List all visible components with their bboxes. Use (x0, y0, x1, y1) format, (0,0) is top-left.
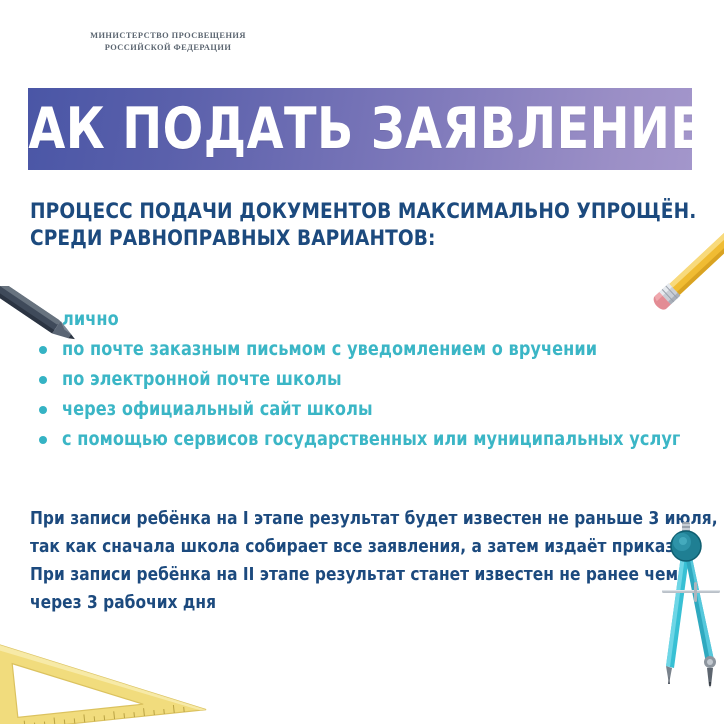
subtitle: ПРОЦЕСС ПОДАЧИ ДОКУМЕНТОВ МАКСИМАЛЬНО УП… (30, 198, 700, 252)
note-line-1: При записи ребёнка на I этапе результат … (30, 505, 678, 533)
triangle-ruler-icon (0, 624, 220, 724)
list-item-label: через официальный сайт школы (62, 395, 373, 425)
note-paragraph: При записи ребёнка на I этапе результат … (30, 505, 695, 617)
subtitle-line-2: СРЕДИ РАВНОПРАВНЫХ ВАРИАНТОВ: (30, 225, 673, 252)
list-item-label: по почте заказным письмом с уведомлением… (62, 335, 597, 365)
note-line-4: через 3 рабочих дня (30, 589, 678, 617)
methods-list: лично по почте заказным письмом с уведом… (34, 305, 714, 455)
note-line-3: При записи ребёнка на II этапе результат… (30, 561, 678, 589)
bullet-dot-icon (39, 346, 47, 354)
poster-root: МИНИСТЕРСТВО ПРОСВЕЩЕНИЯ РОССИЙСКОЙ ФЕДЕ… (0, 0, 724, 724)
ministry-line-2: РОССИЙСКОЙ ФЕДЕРАЦИИ (38, 42, 298, 54)
bullet-dot-icon (39, 316, 47, 324)
page-title: КАК ПОДАТЬ ЗАЯВЛЕНИЕ? (28, 101, 692, 158)
list-item-label: лично (62, 305, 119, 335)
list-item-label: по электронной почте школы (62, 365, 342, 395)
list-item: по почте заказным письмом с уведомлением… (34, 335, 714, 365)
list-item: через официальный сайт школы (34, 395, 714, 425)
subtitle-line-1: ПРОЦЕСС ПОДАЧИ ДОКУМЕНТОВ МАКСИМАЛЬНО УП… (30, 198, 673, 225)
bullet-dot-icon (39, 436, 47, 444)
note-line-2: так как сначала школа собирает все заявл… (30, 533, 678, 561)
ministry-lockup: МИНИСТЕРСТВО ПРОСВЕЩЕНИЯ РОССИЙСКОЙ ФЕДЕ… (38, 30, 298, 53)
list-item-label: с помощью сервисов государственных или м… (62, 425, 680, 455)
list-item: с помощью сервисов государственных или м… (34, 425, 714, 455)
bullet-dot-icon (39, 406, 47, 414)
ministry-line-1: МИНИСТЕРСТВО ПРОСВЕЩЕНИЯ (90, 31, 246, 40)
list-item: лично (34, 305, 714, 335)
list-item: по электронной почте школы (34, 365, 714, 395)
title-banner: КАК ПОДАТЬ ЗАЯВЛЕНИЕ? (28, 88, 692, 170)
bullet-dot-icon (39, 376, 47, 384)
